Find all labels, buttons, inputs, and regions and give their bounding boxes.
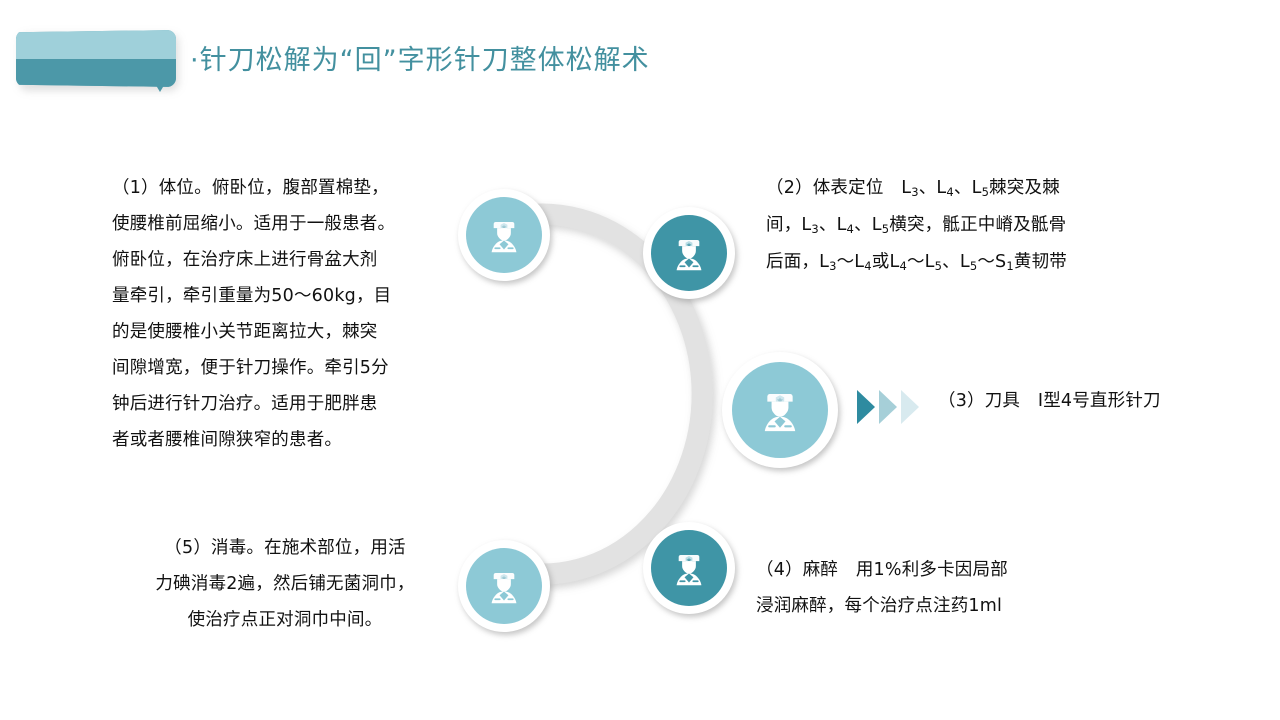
step-5-line: 使治疗点正对洞巾中间。 xyxy=(130,602,440,638)
step-2-line: 后面，L3～L4或L4～L5、L5～S1黄韧带 xyxy=(766,244,1136,281)
step-2-seg: ～L xyxy=(837,252,865,272)
chevron-right-icon xyxy=(879,390,897,424)
step-node-1[interactable] xyxy=(458,189,550,281)
nurse-icon xyxy=(667,231,711,275)
step-node-4-disc xyxy=(651,530,727,606)
step-2-sub: 5 xyxy=(970,259,978,273)
slide-canvas: ·针刀松解为“回”字形针刀整体松解术 xyxy=(0,0,1280,720)
step-3-text: （3）刀具 Ⅰ型4号直形针刀 xyxy=(938,388,1268,414)
chevron-right-icon xyxy=(857,390,875,424)
step-4-line: 浸润麻醉，每个治疗点注药1ml xyxy=(756,588,1156,624)
step-1-line: 间隙增宽，便于针刀操作。牵引5分 xyxy=(112,350,462,386)
step-2-seg: 黄韧带 xyxy=(1014,252,1067,272)
step-2-line: （2）体表定位 L3、L4、L5棘突及棘 xyxy=(766,170,1136,207)
step-2-seg: 后面，L xyxy=(766,252,829,272)
step-2-sub: 4 xyxy=(847,222,855,236)
step-2-sub: 5 xyxy=(935,259,943,273)
step-4-text: （4）麻醉 用1%利多卡因局部 浸润麻醉，每个治疗点注药1ml xyxy=(756,552,1156,624)
step-2-seg: 棘突及棘 xyxy=(989,178,1060,198)
nurse-icon xyxy=(482,564,526,608)
nurse-icon xyxy=(667,546,711,590)
step-5-line: （5）消毒。在施术部位，用活 xyxy=(130,530,440,566)
step-1-line: 俯卧位，在治疗床上进行骨盆大剂 xyxy=(112,242,462,278)
banner-tail xyxy=(154,82,166,92)
step-node-2-disc xyxy=(651,215,727,291)
step-2-seg: ～L xyxy=(907,252,935,272)
step-2-seg: 或L xyxy=(872,252,900,272)
step-2-seg: 、L xyxy=(954,178,982,198)
step-node-3[interactable] xyxy=(722,352,838,468)
step-1-line: 者或者腰椎间隙狭窄的患者。 xyxy=(112,422,462,458)
title-label: 针刀松解为“回”字形针刀整体松解术 xyxy=(200,45,650,76)
title-banner xyxy=(16,30,176,87)
step-2-sub: 3 xyxy=(911,185,919,199)
chevron-right-icon xyxy=(901,390,919,424)
step-5-text: （5）消毒。在施术部位，用活 力碘消毒2遍，然后铺无菌洞巾， 使治疗点正对洞巾中… xyxy=(130,530,440,638)
title-bullet: · xyxy=(190,45,200,76)
step-2-seg: 、L xyxy=(942,252,970,272)
step-5-line: 力碘消毒2遍，然后铺无菌洞巾， xyxy=(130,566,440,602)
step-2-sub: 3 xyxy=(811,222,819,236)
step-2-seg: 、L xyxy=(819,215,847,235)
chevron-arrow-group xyxy=(857,388,937,426)
step-3-line: （3）刀具 Ⅰ型4号直形针刀 xyxy=(938,388,1268,414)
step-2-line: 间，L3、L4、L5横突，骶正中嵴及骶骨 xyxy=(766,207,1136,244)
step-node-1-disc xyxy=(466,197,542,273)
step-2-sub: 3 xyxy=(829,259,837,273)
step-node-2[interactable] xyxy=(643,207,735,299)
banner-bottom-half xyxy=(16,59,176,88)
step-1-line: 钟后进行针刀治疗。适用于肥胖患 xyxy=(112,386,462,422)
step-1-line: 量牵引，牵引重量为50～60kg，目 xyxy=(112,278,462,314)
page-title: ·针刀松解为“回”字形针刀整体松解术 xyxy=(190,44,650,78)
step-4-line: （4）麻醉 用1%利多卡因局部 xyxy=(756,552,1156,588)
step-2-sub: 5 xyxy=(882,222,890,236)
nurse-icon xyxy=(753,383,807,437)
step-node-3-disc xyxy=(732,362,828,458)
step-node-5-disc xyxy=(466,548,542,624)
nurse-icon xyxy=(482,213,526,257)
step-2-seg: 横突，骶正中嵴及骶骨 xyxy=(889,215,1066,235)
step-node-5[interactable] xyxy=(458,540,550,632)
step-2-sub: 4 xyxy=(899,259,907,273)
step-2-text: （2）体表定位 L3、L4、L5棘突及棘 间，L3、L4、L5横突，骶正中嵴及骶… xyxy=(766,170,1136,281)
step-1-line: （1）体位。俯卧位，腹部置棉垫， xyxy=(112,170,462,206)
step-2-seg: 、L xyxy=(919,178,947,198)
banner-body xyxy=(16,30,176,87)
step-2-sub: 4 xyxy=(946,185,954,199)
step-2-sub: 4 xyxy=(864,259,872,273)
step-2-seg: 间，L xyxy=(766,215,811,235)
banner-top-half xyxy=(16,30,176,59)
step-2-sub: 5 xyxy=(982,185,990,199)
step-1-line: 使腰椎前屈缩小。适用于一般患者。 xyxy=(112,206,462,242)
step-2-seg: 、L xyxy=(854,215,882,235)
step-1-text: （1）体位。俯卧位，腹部置棉垫， 使腰椎前屈缩小。适用于一般患者。 俯卧位，在治… xyxy=(112,170,462,458)
step-2-sub: 1 xyxy=(1006,259,1014,273)
step-node-4[interactable] xyxy=(643,522,735,614)
step-2-seg: ～S xyxy=(977,252,1006,272)
step-1-line: 的是使腰椎小关节距离拉大，棘突 xyxy=(112,314,462,350)
step-2-seg: （2）体表定位 L xyxy=(766,178,911,198)
